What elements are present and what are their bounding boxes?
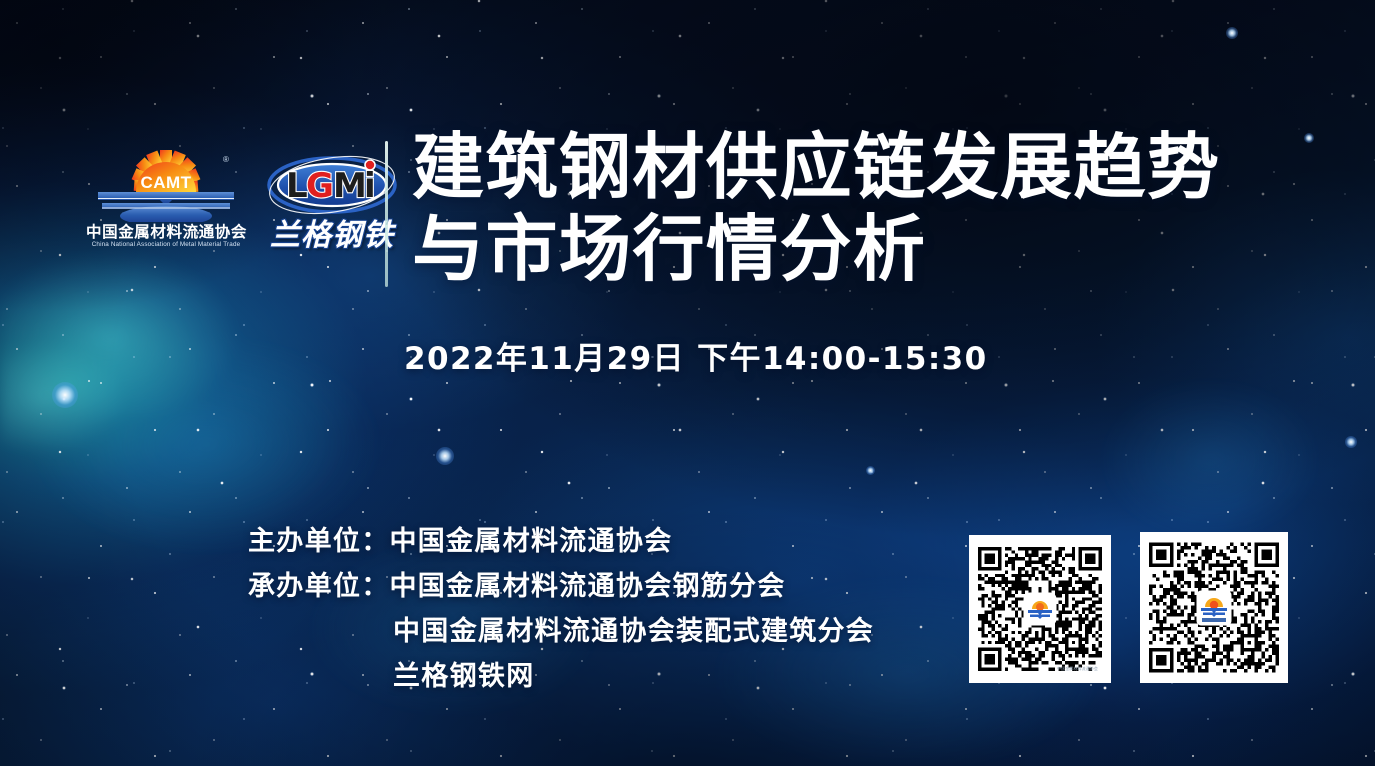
svg-text:CAMT: CAMT <box>140 173 191 192</box>
camt-name-en: China National Association of Metal Mate… <box>88 241 243 249</box>
svg-text:G: G <box>306 166 334 206</box>
bright-star-4 <box>1304 133 1314 143</box>
camt-sun-wing-icon <box>1025 594 1055 624</box>
qr-code-left-canvas: 中国金属材料流通协会 <box>978 544 1102 674</box>
event-poster: CAMT ® 中国金属材料流通协会 China National Associa… <box>0 0 1375 766</box>
camt-full-logo-icon <box>1198 592 1230 624</box>
bright-star-2 <box>436 447 454 465</box>
title-line-1: 建筑钢材供应链发展趋势 <box>412 126 1242 208</box>
lgmi-logo: L G M i 兰格钢铁 <box>266 152 398 256</box>
bright-star-5 <box>866 466 875 475</box>
title-divider <box>385 141 388 287</box>
title-line-2: 与市场行情分析 <box>412 208 1242 290</box>
camt-logo: CAMT ® 中国金属材料流通协会 China National Associa… <box>86 148 246 258</box>
svg-text:®: ® <box>223 155 229 164</box>
event-datetime: 2022年11月29日 下午14:00-15:30 <box>404 333 988 378</box>
lgmi-name-cn: 兰格钢铁 <box>266 210 398 254</box>
qr-code-right[interactable] <box>1140 532 1288 683</box>
qr-watermark-left: 中国金属材料流通协会 <box>1057 666 1098 672</box>
organizer-line-coorg-1: 承办单位：中国金属材料流通协会钢筋分会 <box>248 564 874 609</box>
logo-row: CAMT ® 中国金属材料流通协会 China National Associa… <box>86 148 398 258</box>
lgmi-emblem-icon: L G M i <box>266 152 398 218</box>
organizer-block: 主办单位：中国金属材料流通协会 承办单位：中国金属材料流通协会钢筋分会 中国金属… <box>248 519 874 699</box>
page-title: 建筑钢材供应链发展趋势 与市场行情分析 <box>412 126 1242 290</box>
camt-emblem-icon: CAMT ® <box>92 148 240 222</box>
svg-text:M: M <box>333 166 367 206</box>
organizer-line-host: 主办单位：中国金属材料流通协会 <box>248 519 874 564</box>
organizer-line-coorg-2: 中国金属材料流通协会装配式建筑分会 <box>248 609 874 654</box>
organizer-line-coorg-3: 兰格钢铁网 <box>248 654 874 699</box>
svg-text:L: L <box>286 166 308 206</box>
qr-code-right-canvas <box>1149 541 1279 674</box>
svg-text:i: i <box>364 166 376 206</box>
bright-star-1 <box>52 382 78 408</box>
camt-name-cn: 中国金属材料流通协会 <box>86 224 246 241</box>
qr-code-left[interactable]: 中国金属材料流通协会 <box>969 535 1111 683</box>
bright-star-6 <box>1345 436 1357 448</box>
bright-star-3 <box>1226 27 1238 39</box>
